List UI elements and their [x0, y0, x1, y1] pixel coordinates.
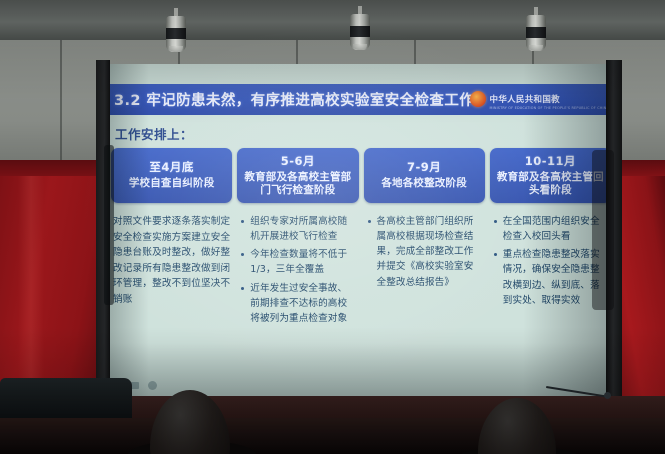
bullet-list: 组织专家对所属高校随机开展进校飞行检查 今年检查数量将不低于1/3，三年全覆盖 …	[239, 214, 356, 326]
foreground-seat	[0, 378, 132, 418]
gov-logo: 中华人民共和国教 MINISTRY OF EDUCATION OF THE PE…	[470, 87, 609, 110]
column-header: 5-6月 教育部及各高校主管部门飞行检查阶段	[237, 148, 358, 203]
bullet-item: 今年检查数量将不低于1/3，三年全覆盖	[239, 247, 356, 277]
conference-room-photo: 3.2 牢记防患未然，有序推进高校实验室安全检查工作 中华人民共和国教 MINI…	[0, 0, 665, 454]
microphone-icon	[604, 392, 611, 399]
gov-logo-subtitle: MINISTRY OF EDUCATION OF THE PEOPLE'S RE…	[490, 106, 609, 110]
column-body: 对照文件要求逐条落实制定安全检查实施方案建立安全隐患台账及时整改，做好整改记录所…	[111, 214, 232, 307]
column-paragraph: 对照文件要求逐条落实制定安全检查实施方案建立安全隐患台账及时整改，做好整改记录所…	[113, 214, 230, 307]
screen-bevel-left	[104, 145, 114, 305]
column-body: 组织专家对所属高校随机开展进校飞行检查 今年检查数量将不低于1/3，三年全覆盖 …	[237, 214, 358, 326]
column-stage: 教育部及各高校主管回头看阶段	[493, 171, 608, 197]
column-header: 7-9月 各地各校整改阶段	[364, 148, 485, 203]
bullet-item: 近年发生过安全事故、前期排查不达标的高校将被列为重点检查对象	[239, 281, 356, 326]
column-period: 5-6月	[240, 153, 355, 169]
foreground-desk	[0, 418, 665, 454]
projection-screen: 3.2 牢记防患未然，有序推进高校实验室安全检查工作 中华人民共和国教 MINI…	[103, 64, 615, 396]
ceiling	[0, 0, 665, 40]
column-period: 至4月底	[114, 159, 229, 175]
column-period: 10-11月	[493, 153, 608, 169]
menu-icon[interactable]	[148, 381, 157, 390]
timeline-column: 5-6月 教育部及各高校主管部门飞行检查阶段 组织专家对所属高校随机开展进校飞行…	[237, 148, 358, 329]
column-period: 7-9月	[367, 159, 482, 175]
column-body: 各高校主管部门组织所属高校根据现场检查结果，完成全部整改工作并提交《高校实验室安…	[364, 214, 485, 290]
slide-title-bar: 3.2 牢记防患未然，有序推进高校实验室安全检查工作 中华人民共和国教 MINI…	[103, 84, 615, 115]
timeline-column: 至4月底 学校自查自纠阶段 对照文件要求逐条落实制定安全检查实施方案建立安全隐患…	[111, 148, 232, 329]
national-emblem-icon	[470, 91, 486, 107]
bullet-item: 各高校主管部门组织所属高校根据现场检查结果，完成全部整改工作并提交《高校实验室安…	[366, 214, 483, 290]
bullet-list: 各高校主管部门组织所属高校根据现场检查结果，完成全部整改工作并提交《高校实验室安…	[366, 214, 483, 290]
timeline-column: 7-9月 各地各校整改阶段 各高校主管部门组织所属高校根据现场检查结果，完成全部…	[364, 148, 485, 329]
ceiling-panel-seam	[60, 40, 62, 175]
section-label: 工作安排上：	[115, 124, 193, 143]
slide-title: 3.2 牢记防患未然，有序推进高校实验室安全检查工作	[103, 89, 474, 110]
column-stage: 各地各校整改阶段	[367, 177, 482, 190]
screen-bevel-right	[592, 150, 614, 310]
timeline-columns: 至4月底 学校自查自纠阶段 对照文件要求逐条落实制定安全检查实施方案建立安全隐患…	[111, 148, 611, 329]
gov-logo-name: 中华人民共和国教	[490, 95, 560, 105]
bullet-item: 组织专家对所属高校随机开展进校飞行检查	[239, 214, 356, 244]
column-header: 至4月底 学校自查自纠阶段	[111, 148, 232, 203]
column-stage: 学校自查自纠阶段	[114, 177, 229, 190]
ceiling-spotlight-icon	[350, 6, 370, 50]
ceiling-spotlight-icon	[526, 7, 546, 51]
presentation-slide: 3.2 牢记防患未然，有序推进高校实验室安全检查工作 中华人民共和国教 MINI…	[103, 64, 615, 396]
ceiling-spotlight-icon	[166, 8, 186, 52]
column-stage: 教育部及各高校主管部门飞行检查阶段	[240, 171, 355, 197]
